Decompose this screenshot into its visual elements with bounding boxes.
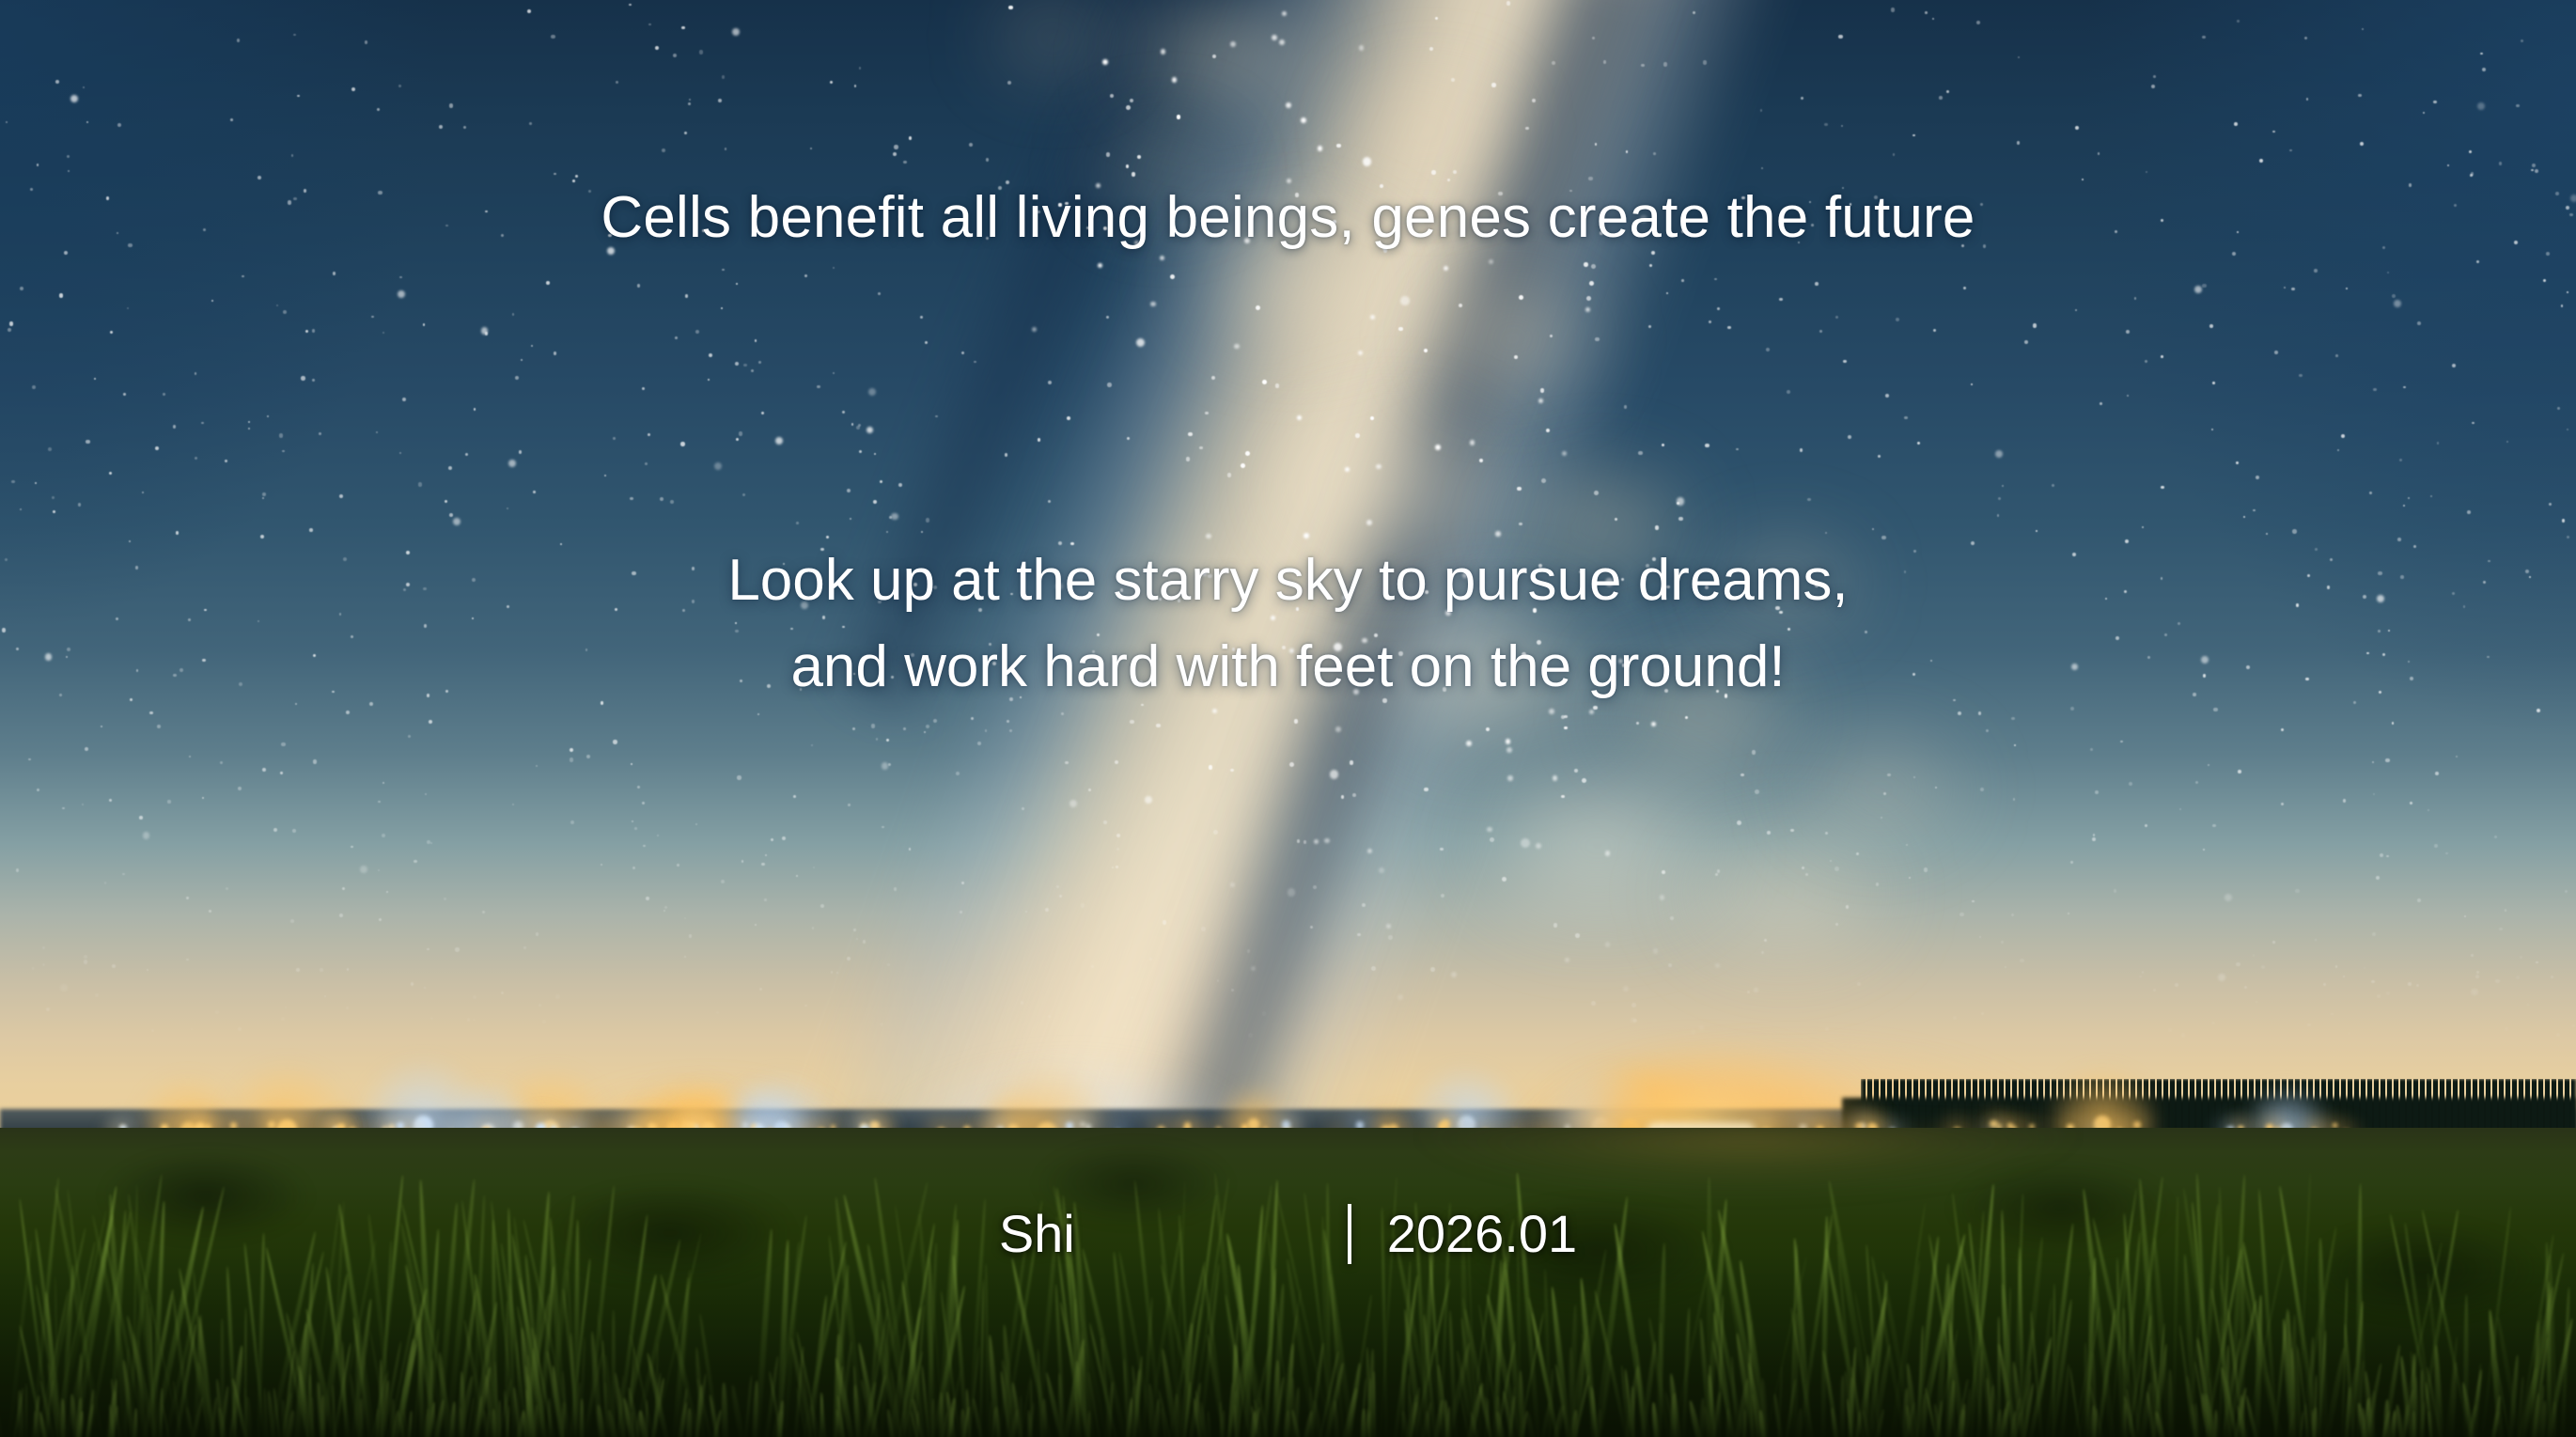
subtitle-line-1: Look up at the starry sky to pursue drea… xyxy=(0,538,2576,624)
footer-date: 2026.01 xyxy=(1387,1203,1577,1264)
subtitle-line-2: and work hard with feet on the ground! xyxy=(0,624,2576,711)
footer-divider xyxy=(1348,1204,1351,1264)
ground-vignette xyxy=(0,1128,2576,1437)
slide-subtitle: Look up at the starry sky to pursue drea… xyxy=(0,538,2576,711)
slide-canvas: Cells benefit all living beings, genes c… xyxy=(0,0,2576,1437)
slide-title: Cells benefit all living beings, genes c… xyxy=(0,184,2576,251)
slide-footer: Shi 2026.01 xyxy=(0,1203,2576,1264)
footer-author: Shi xyxy=(999,1203,1075,1264)
